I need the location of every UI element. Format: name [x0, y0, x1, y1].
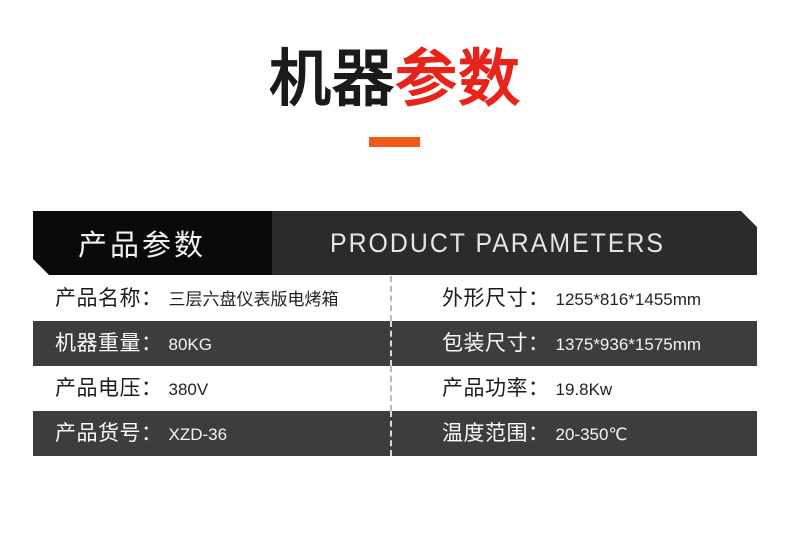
param-value: 80KG	[169, 322, 212, 366]
param-cell-left: 产品名称： 三层六盘仪表版电烤箱	[33, 276, 390, 321]
section-header-english-label: PRODUCT PARAMETERS	[330, 228, 665, 259]
section-header-right-block: PRODUCT PARAMETERS	[272, 211, 757, 275]
page-title-primary: 机器	[269, 42, 395, 115]
column-divider	[390, 276, 392, 321]
param-label: 包装尺寸：	[442, 321, 550, 366]
product-parameters-page: 机器参数 产品参数 PRODUCT PARAMETERS 产品名称： 三层六盘仪…	[0, 0, 790, 554]
param-value: 1255*816*1455mm	[556, 277, 702, 321]
param-cell-left: 产品电压： 380V	[33, 366, 390, 411]
param-cell-right: 产品功率： 19.8Kw	[390, 366, 757, 411]
param-cell-right: 外形尺寸： 1255*816*1455mm	[390, 276, 757, 321]
page-title: 机器参数	[0, 42, 790, 116]
param-cell-right: 温度范围： 20-350℃	[390, 411, 757, 456]
param-label: 产品功率：	[442, 366, 550, 411]
param-label: 机器重量：	[55, 321, 163, 366]
param-cell-left: 机器重量： 80KG	[33, 321, 390, 366]
page-title-accent: 参数	[395, 42, 521, 115]
parameters-table: 产品名称： 三层六盘仪表版电烤箱 外形尺寸： 1255*816*1455mm 机…	[33, 276, 757, 456]
param-value: 20-350℃	[556, 412, 628, 456]
param-cell-right: 包装尺寸： 1375*936*1575mm	[390, 321, 757, 366]
table-row: 机器重量： 80KG 包装尺寸： 1375*936*1575mm	[33, 321, 757, 366]
column-divider	[390, 321, 392, 366]
param-value: 380V	[169, 367, 209, 411]
param-value: 19.8Kw	[556, 367, 613, 411]
param-label: 外形尺寸：	[442, 276, 550, 321]
table-row: 产品名称： 三层六盘仪表版电烤箱 外形尺寸： 1255*816*1455mm	[33, 276, 757, 321]
param-label: 产品货号：	[55, 411, 163, 456]
param-label: 产品电压：	[55, 366, 163, 411]
param-label: 产品名称：	[55, 276, 163, 321]
section-header-left-block: 产品参数	[33, 211, 272, 275]
param-value: 1375*936*1575mm	[556, 322, 702, 366]
section-header-chinese-label: 产品参数	[78, 222, 206, 264]
section-header-bar: 产品参数 PRODUCT PARAMETERS	[33, 211, 757, 275]
param-label: 温度范围：	[442, 411, 550, 456]
table-row: 产品电压： 380V 产品功率： 19.8Kw	[33, 366, 757, 411]
column-divider	[390, 366, 392, 411]
param-value: 三层六盘仪表版电烤箱	[169, 277, 339, 321]
title-underline-accent-bar	[369, 137, 420, 147]
column-divider	[390, 411, 392, 456]
param-value: XZD-36	[169, 412, 228, 456]
param-cell-left: 产品货号： XZD-36	[33, 411, 390, 456]
table-row: 产品货号： XZD-36 温度范围： 20-350℃	[33, 411, 757, 456]
